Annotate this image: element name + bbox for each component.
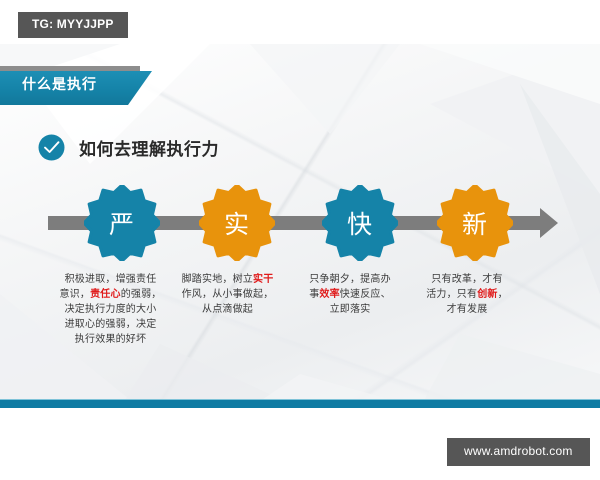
- description-text: 脚踏实地，树立: [182, 274, 253, 285]
- description-text: 积极进取，增强责任: [65, 274, 157, 285]
- bottom-rule-highlight: [0, 399, 600, 400]
- slide-canvas: TG: MYYJJPP 什么是执行 如何去理解执行力 严实快新 积极进取，增强责…: [0, 0, 600, 480]
- description-highlight: 实干: [253, 274, 273, 285]
- description-text: 快速反应、: [340, 289, 391, 300]
- description-text: 执行效果的好坏: [75, 334, 146, 345]
- description-highlight: 创新: [477, 289, 497, 300]
- description-line: 只争朝夕，提高办: [295, 272, 405, 287]
- description-column-4: 只有改革，才有活力，只有创新，才有发展: [412, 272, 522, 317]
- description-text: 只争朝夕，提高办: [309, 274, 391, 285]
- description-text: ，: [498, 289, 508, 300]
- description-line: 决定执行力度的大小: [48, 302, 173, 317]
- description-line: 才有发展: [412, 302, 522, 317]
- description-text: 事: [309, 289, 319, 300]
- banner-label: 什么是执行: [22, 74, 97, 94]
- page-title: 如何去理解执行力: [79, 135, 219, 160]
- description-column-2: 脚踏实地，树立实干作风，从小事做起，从点滴做起: [170, 272, 285, 317]
- description-highlight: 效率: [319, 289, 339, 300]
- tg-watermark-badge: TG: MYYJJPP: [18, 12, 128, 38]
- description-column-1: 积极进取，增强责任意识，责任心的强弱，决定执行力度的大小进取心的强弱，决定执行效…: [48, 272, 173, 347]
- description-highlight: 责任心: [90, 289, 121, 300]
- timeline-badge-2[interactable]: 实: [199, 185, 275, 261]
- timeline-badge-label: 严: [84, 185, 160, 261]
- check-circle-icon: [38, 134, 65, 161]
- description-line: 只有改革，才有: [412, 272, 522, 287]
- timeline-badge-4[interactable]: 新: [437, 185, 513, 261]
- footer-url-badge: www.amdrobot.com: [447, 438, 590, 466]
- description-text: 作风，从小事做起，: [182, 289, 274, 300]
- description-text: 只有改革，才有: [431, 274, 502, 285]
- description-text: 进取心的强弱，决定: [65, 319, 157, 330]
- description-text: 从点滴做起: [202, 304, 253, 315]
- description-line: 积极进取，增强责任: [48, 272, 173, 287]
- description-line: 脚踏实地，树立实干: [170, 272, 285, 287]
- description-text: 活力，只有: [426, 289, 477, 300]
- description-line: 活力，只有创新，: [412, 287, 522, 302]
- description-line: 意识，责任心的强弱，: [48, 287, 173, 302]
- timeline-badge-label: 快: [322, 185, 398, 261]
- timeline-badge-1[interactable]: 严: [84, 185, 160, 261]
- timeline-badge-label: 新: [437, 185, 513, 261]
- bottom-rule: [0, 400, 600, 408]
- description-line: 执行效果的好坏: [48, 332, 173, 347]
- description-line: 事效率快速反应、: [295, 287, 405, 302]
- description-line: 作风，从小事做起，: [170, 287, 285, 302]
- timeline-badge-3[interactable]: 快: [322, 185, 398, 261]
- description-text: 才有发展: [447, 304, 488, 315]
- description-text: 立即落实: [330, 304, 371, 315]
- description-text: 意识，: [59, 289, 90, 300]
- timeline-badge-label: 实: [199, 185, 275, 261]
- section-banner: 什么是执行: [0, 66, 170, 108]
- description-text: 的强弱，: [121, 289, 162, 300]
- section-title-group: 如何去理解执行力: [38, 134, 219, 161]
- description-column-3: 只争朝夕，提高办事效率快速反应、立即落实: [295, 272, 405, 317]
- description-line: 立即落实: [295, 302, 405, 317]
- timeline-row: 严实快新: [0, 180, 600, 275]
- description-line: 进取心的强弱，决定: [48, 317, 173, 332]
- description-text: 决定执行力度的大小: [65, 304, 157, 315]
- description-line: 从点滴做起: [170, 302, 285, 317]
